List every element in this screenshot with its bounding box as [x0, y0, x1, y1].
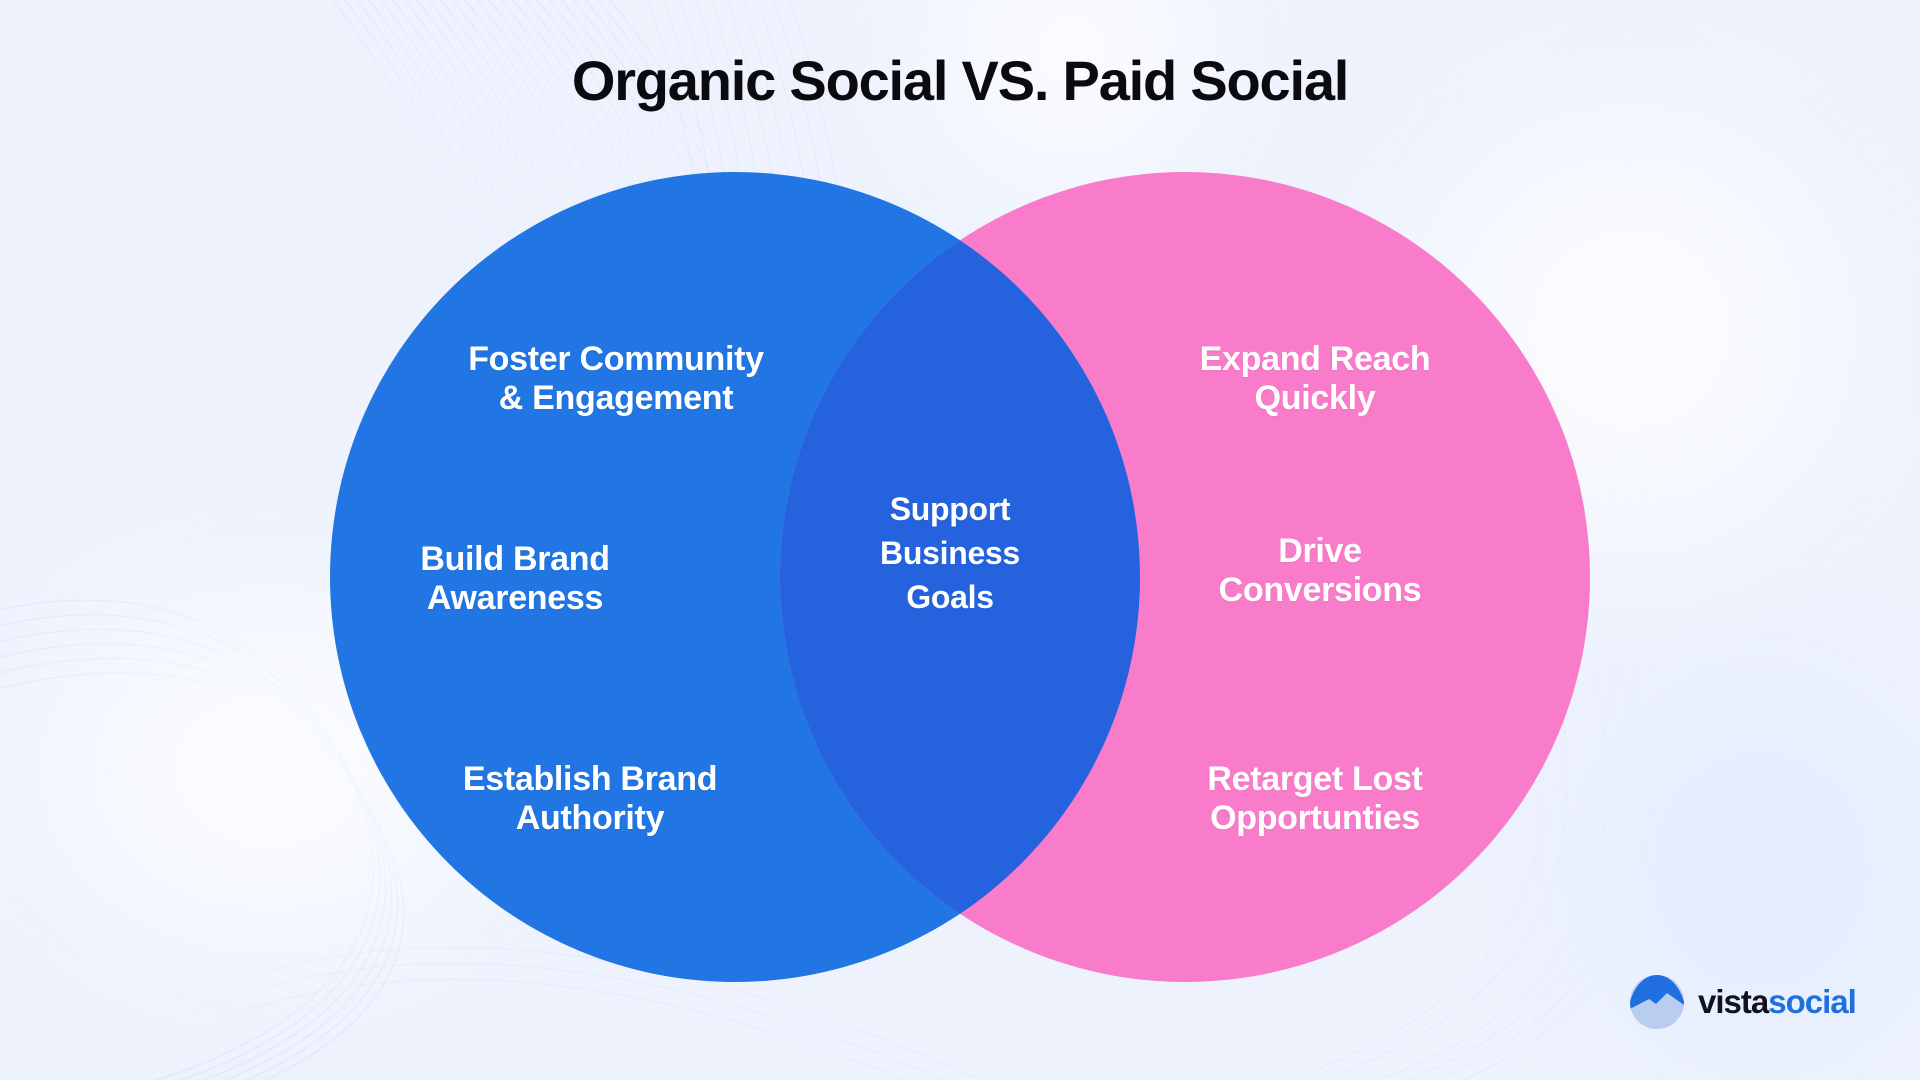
paid-item-retarget-lost-opportunities: Retarget Lost Opportunties: [1140, 760, 1490, 839]
overlap-item-line3: Goals: [830, 575, 1070, 619]
mountain-glyph: [1630, 975, 1684, 1029]
organic-item-foster-community-line2: & Engagement: [396, 379, 836, 418]
organic-item-build-brand-awareness-line2: Awareness: [350, 579, 680, 618]
organic-item-foster-community-line1: Foster Community: [396, 340, 836, 379]
paid-item-retarget-lost-opportunities-line1: Retarget Lost: [1140, 760, 1490, 799]
overlap-item-support-business-goals: Support Business Goals: [830, 487, 1070, 619]
organic-item-foster-community: Foster Community & Engagement: [396, 340, 836, 419]
venn-diagram: Foster Community & Engagement Build Bran…: [0, 0, 1920, 1080]
vista-social-mountain-icon: [1630, 975, 1684, 1029]
paid-item-drive-conversions-line2: Conversions: [1145, 571, 1495, 610]
logo-word-vista: vista: [1698, 983, 1768, 1020]
overlap-item-line2: Business: [830, 531, 1070, 575]
organic-item-establish-brand-authority-line1: Establish Brand: [390, 760, 790, 799]
organic-item-build-brand-awareness: Build Brand Awareness: [350, 540, 680, 619]
paid-item-retarget-lost-opportunities-line2: Opportunties: [1140, 799, 1490, 838]
paid-item-expand-reach: Expand Reach Quickly: [1140, 340, 1490, 419]
organic-item-establish-brand-authority-line2: Authority: [390, 799, 790, 838]
paid-item-expand-reach-line2: Quickly: [1140, 379, 1490, 418]
logo-wordmark: vistasocial: [1698, 983, 1856, 1021]
vista-social-logo[interactable]: vistasocial: [1630, 975, 1856, 1029]
overlap-item-line1: Support: [830, 487, 1070, 531]
paid-item-expand-reach-line1: Expand Reach: [1140, 340, 1490, 379]
logo-word-social: social: [1768, 983, 1856, 1020]
organic-item-build-brand-awareness-line1: Build Brand: [350, 540, 680, 579]
organic-item-establish-brand-authority: Establish Brand Authority: [390, 760, 790, 839]
paid-item-drive-conversions-line1: Drive: [1145, 532, 1495, 571]
paid-item-drive-conversions: Drive Conversions: [1145, 532, 1495, 611]
